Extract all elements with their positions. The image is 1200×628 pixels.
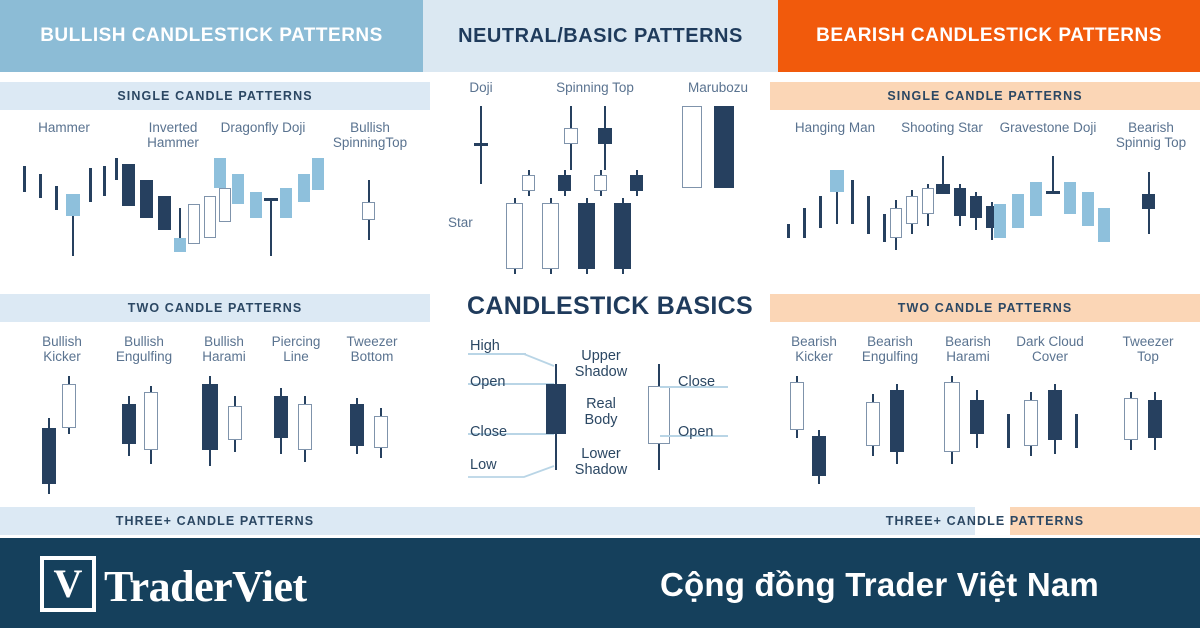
pattern-bearish-spinning-top-label-1: Bearish — [1104, 120, 1198, 135]
band-bullish-two: TWO CANDLE PATTERNS — [0, 294, 430, 322]
label-upper-shadow-2: Shadow — [566, 364, 636, 380]
band-bearish-three-label: THREE+ CANDLE PATTERNS — [770, 514, 1200, 528]
candle — [88, 168, 92, 202]
candle-spinning-top — [362, 180, 375, 240]
candle-gravestone — [1046, 156, 1060, 194]
header-bearish: BEARISH CANDLESTICK PATTERNS — [778, 0, 1200, 72]
pattern-bearish-engulfing-label-2: Engulfing — [846, 349, 934, 364]
band-bearish-single: SINGLE CANDLE PATTERNS — [770, 82, 1200, 110]
candle — [202, 376, 218, 466]
pattern-dark-cloud-cover-label-1: Dark Cloud — [1000, 334, 1100, 349]
candle — [62, 376, 76, 434]
pattern-tweezer-bottom-label-2: Bottom — [328, 349, 416, 364]
candle — [542, 198, 559, 274]
pattern-piercing-line-chart — [252, 374, 340, 504]
pattern-bearish-kicker: Bearish Kicker — [770, 334, 858, 504]
pattern-bearish-kicker-label-1: Bearish — [770, 334, 858, 349]
pattern-hanging-man-label: Hanging Man — [778, 120, 892, 135]
pattern-marubozu-chart — [668, 102, 768, 272]
pattern-bearish-spinning-top: Bearish Spinnig Top — [1104, 120, 1198, 280]
candle — [144, 386, 158, 464]
candlestick-basics-title: CANDLESTICK BASICS — [440, 292, 780, 321]
traderviet-wordmark: TraderViet — [104, 561, 307, 612]
pattern-bearish-harami: Bearish Harami — [924, 334, 1012, 504]
band-bullish-two-label: TWO CANDLE PATTERNS — [128, 301, 303, 315]
candle — [906, 190, 918, 234]
pattern-bearish-engulfing-label-1: Bearish — [846, 334, 934, 349]
candle — [1006, 414, 1010, 448]
pattern-neutral-spinning-top-label: Spinning Top — [540, 80, 650, 95]
candle — [374, 408, 388, 458]
candle — [558, 170, 571, 196]
pattern-dragonfly-doji: Dragonfly Doji — [208, 120, 318, 280]
pattern-bullish-spinning-top-label-1: Bullish — [318, 120, 422, 135]
band-bullish-single-label: SINGLE CANDLE PATTERNS — [117, 89, 312, 103]
candle — [298, 396, 312, 462]
candle — [506, 198, 523, 274]
header-neutral-title: NEUTRAL/BASIC PATTERNS — [458, 25, 743, 48]
candle — [140, 180, 153, 218]
footer-tagline: Cộng đồng Trader Việt Nam — [660, 566, 1180, 604]
candle — [158, 196, 171, 230]
label-close-left: Close — [470, 424, 507, 440]
pattern-gravestone-doji-label: Gravestone Doji — [990, 120, 1106, 135]
pattern-bullish-engulfing-chart — [100, 374, 188, 504]
candle — [188, 204, 200, 244]
pattern-bearish-kicker-chart — [770, 374, 858, 504]
candle — [802, 208, 806, 238]
pattern-bearish-engulfing-chart — [846, 374, 934, 504]
pattern-tweezer-top-label-1: Tweezer — [1104, 334, 1192, 349]
candle — [1124, 392, 1138, 450]
candle — [122, 164, 135, 206]
pattern-piercing-line-label-1: Piercing — [252, 334, 340, 349]
pattern-gravestone-doji-chart — [990, 156, 1106, 276]
candle — [890, 384, 904, 464]
candle — [682, 106, 702, 188]
candle — [1148, 392, 1162, 450]
label-low: Low — [470, 457, 497, 473]
candle — [866, 394, 880, 456]
candle-hanging-man — [830, 170, 844, 224]
pattern-bullish-engulfing-label-1: Bullish — [100, 334, 188, 349]
candle — [1074, 414, 1078, 448]
pattern-hammer-label: Hammer — [10, 120, 118, 135]
candle — [38, 174, 42, 198]
pattern-bullish-spinning-top-chart — [318, 156, 422, 276]
label-lower-shadow-2: Shadow — [566, 462, 636, 478]
pattern-hanging-man: Hanging Man — [778, 120, 892, 280]
candle — [954, 184, 966, 226]
candle-shooting-star — [936, 156, 950, 200]
pattern-bearish-harami-label-1: Bearish — [924, 334, 1012, 349]
pattern-hammer: Hammer — [10, 120, 118, 280]
candle — [812, 430, 826, 484]
label-close-right: Close — [678, 374, 715, 390]
pattern-dark-cloud-cover: Dark Cloud Cover — [1000, 334, 1100, 504]
pattern-dark-cloud-cover-chart — [1000, 374, 1100, 504]
pattern-piercing-line-label-2: Line — [252, 349, 340, 364]
pattern-tweezer-bottom-label-1: Tweezer — [328, 334, 416, 349]
pattern-bullish-engulfing: Bullish Engulfing — [100, 334, 188, 504]
pattern-bullish-kicker-label-1: Bullish — [18, 334, 106, 349]
band-bearish-two-label: TWO CANDLE PATTERNS — [898, 301, 1073, 315]
infographic-page: BULLISH CANDLESTICK PATTERNS NEUTRAL/BAS… — [0, 0, 1200, 628]
pattern-shooting-star: Shooting Star — [886, 120, 998, 280]
candle — [122, 396, 136, 456]
band-bearish-two: TWO CANDLE PATTERNS — [770, 294, 1200, 322]
candle — [890, 200, 902, 250]
candle — [228, 396, 242, 452]
label-high: High — [470, 338, 500, 354]
pattern-dark-cloud-cover-label-2: Cover — [1000, 349, 1100, 364]
pattern-star-label: Star — [448, 215, 500, 230]
pattern-tweezer-bottom-chart — [328, 374, 416, 504]
pattern-bearish-harami-label-2: Harami — [924, 349, 1012, 364]
label-real-body-2: Body — [566, 412, 636, 428]
candle — [850, 180, 854, 224]
header-neutral: NEUTRAL/BASIC PATTERNS — [423, 0, 778, 72]
candle-doji — [474, 106, 488, 184]
candle — [786, 224, 790, 238]
pattern-dragonfly-doji-label: Dragonfly Doji — [208, 120, 318, 135]
pattern-bearish-harami-chart — [924, 374, 1012, 504]
pattern-doji-label: Doji — [450, 80, 512, 95]
header-bullish-title: BULLISH CANDLESTICK PATTERNS — [40, 25, 383, 47]
pattern-gravestone-doji: Gravestone Doji — [990, 120, 1106, 280]
pattern-bearish-engulfing: Bearish Engulfing — [846, 334, 934, 504]
pattern-star-chart — [500, 160, 660, 280]
pattern-hanging-man-chart — [778, 156, 892, 276]
candle-inverted-hammer — [174, 208, 186, 254]
pattern-tweezer-top-label-2: Top — [1104, 349, 1192, 364]
candle — [790, 376, 804, 438]
candle — [922, 184, 934, 226]
pattern-bearish-spinning-top-label-2: Spinnig Top — [1104, 135, 1198, 150]
candle — [350, 398, 364, 454]
pattern-marubozu-label: Marubozu — [668, 80, 768, 95]
candle — [866, 196, 870, 234]
candle — [970, 192, 982, 230]
pattern-shooting-star-label: Shooting Star — [886, 120, 998, 135]
pattern-bullish-kicker: Bullish Kicker — [18, 334, 106, 504]
traderviet-logo-mark: V — [40, 556, 96, 612]
pattern-piercing-line: Piercing Line — [252, 334, 340, 504]
band-bullish-three-label: THREE+ CANDLE PATTERNS — [0, 514, 430, 528]
candle — [578, 198, 595, 274]
candle — [54, 186, 58, 210]
candle — [818, 196, 822, 228]
band-bearish-three: THREE+ CANDLE PATTERNS — [1010, 507, 1200, 535]
candle — [594, 170, 607, 196]
candle — [274, 388, 288, 454]
label-real-body-1: Real — [566, 396, 636, 412]
logo-v-glyph: V — [54, 564, 83, 604]
pattern-tweezer-top-chart — [1104, 374, 1192, 504]
pattern-bullish-kicker-chart — [18, 374, 106, 504]
header-bullish: BULLISH CANDLESTICK PATTERNS — [0, 0, 423, 72]
basics-dark-candle — [546, 364, 566, 470]
label-upper-shadow-1: Upper — [566, 348, 636, 364]
pattern-marubozu: Marubozu — [668, 80, 768, 280]
pattern-tweezer-top: Tweezer Top — [1104, 334, 1192, 504]
candle — [42, 418, 56, 494]
pattern-hammer-chart — [10, 156, 118, 276]
header-bearish-title: BEARISH CANDLESTICK PATTERNS — [816, 25, 1162, 47]
pattern-star-group — [500, 160, 660, 280]
pattern-dragonfly-doji-chart — [208, 156, 318, 276]
basics-hollow-candle — [648, 364, 670, 470]
header-separator — [0, 72, 1200, 75]
candle — [1048, 384, 1062, 454]
label-open-left: Open — [470, 374, 505, 390]
candle — [102, 166, 106, 196]
candle — [714, 106, 734, 188]
pattern-bullish-spinning-top: Bullish SpinningTop — [318, 120, 422, 280]
band-bearish-single-label: SINGLE CANDLE PATTERNS — [887, 89, 1082, 103]
candle — [614, 198, 631, 274]
pattern-bullish-engulfing-label-2: Engulfing — [100, 349, 188, 364]
candle — [944, 376, 960, 464]
pattern-shooting-star-chart — [886, 156, 998, 276]
pattern-bearish-kicker-label-2: Kicker — [770, 349, 858, 364]
pattern-bearish-spinning-top-chart — [1104, 156, 1198, 276]
candle-spinning-top — [1142, 172, 1155, 234]
candle — [22, 166, 26, 192]
label-lower-shadow-1: Lower — [566, 446, 636, 462]
pattern-star-label-cell: Star — [448, 215, 500, 255]
label-open-right: Open — [678, 424, 713, 440]
candle — [522, 170, 535, 196]
pattern-tweezer-bottom: Tweezer Bottom — [328, 334, 416, 504]
pattern-bullish-kicker-label-2: Kicker — [18, 349, 106, 364]
band-bullish-single: SINGLE CANDLE PATTERNS — [0, 82, 430, 110]
candle — [970, 390, 984, 448]
candle — [1024, 392, 1038, 456]
candle-dragonfly — [264, 198, 278, 256]
footer-bar: V TraderViet Cộng đồng Trader Việt Nam — [0, 538, 1200, 628]
candle — [630, 170, 643, 196]
pattern-bullish-spinning-top-label-2: SpinningTop — [318, 135, 422, 150]
candle-hammer — [66, 194, 80, 256]
